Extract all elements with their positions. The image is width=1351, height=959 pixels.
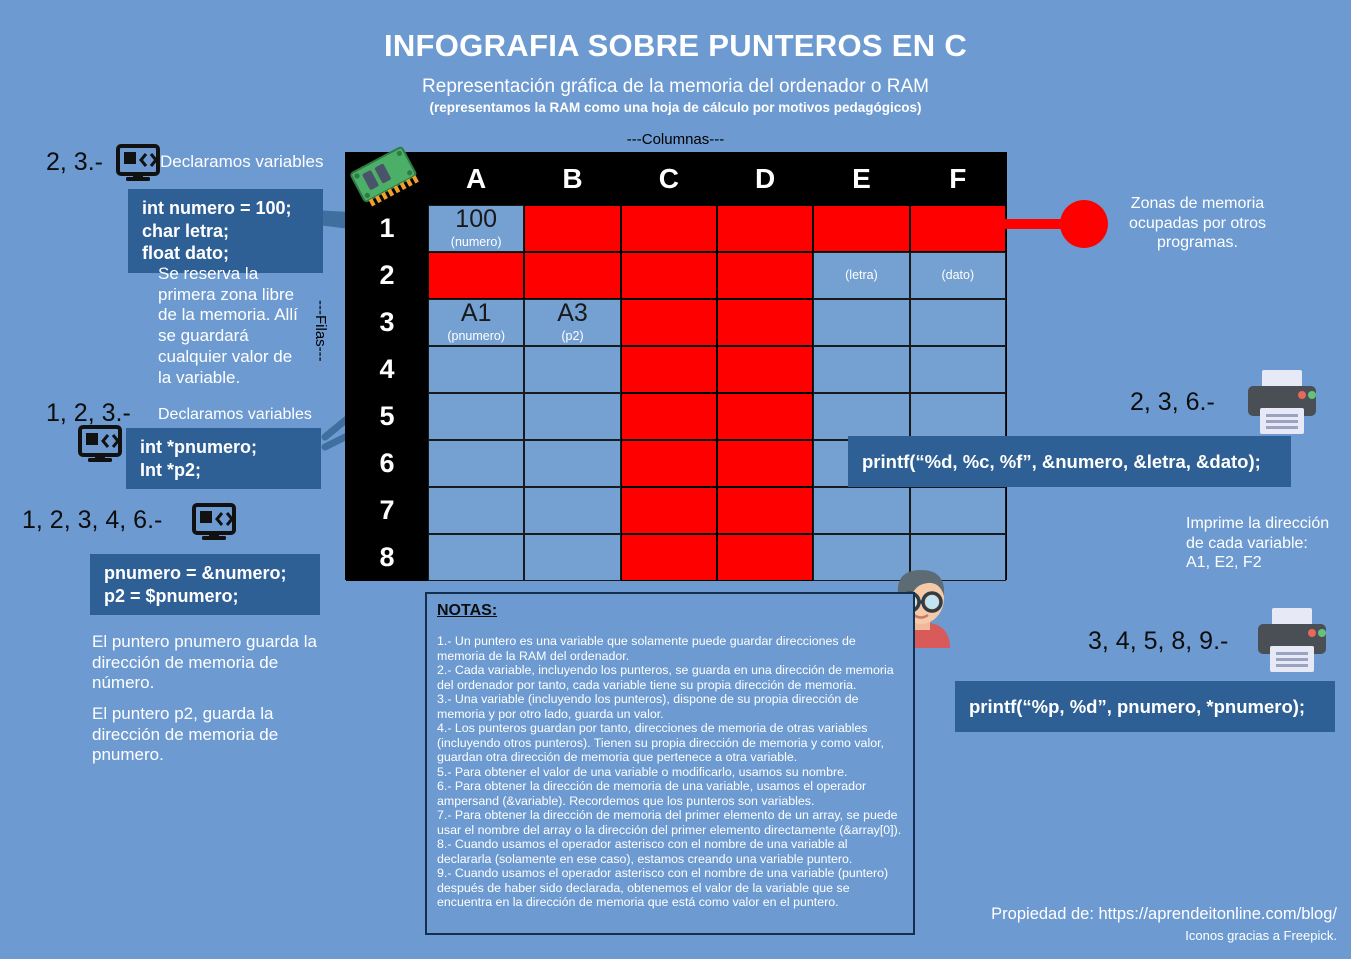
cell-A8[interactable] <box>428 534 524 581</box>
cell-label: (numero) <box>451 236 502 249</box>
ram-chip-icon <box>344 138 430 217</box>
cell-A2[interactable] <box>428 252 524 299</box>
cell-F1[interactable] <box>910 205 1006 252</box>
cell-D7[interactable] <box>717 487 813 534</box>
row-header-5: 5 <box>346 393 428 440</box>
cell-F2[interactable]: (dato) <box>910 252 1006 299</box>
column-header-c: C <box>621 153 717 205</box>
cell-D5[interactable] <box>717 393 813 440</box>
cell-D4[interactable] <box>717 346 813 393</box>
row-header-8: 8 <box>346 534 428 581</box>
spreadsheet-row: 2(letra)(dato) <box>346 252 1006 299</box>
used-memory-legend-swatch <box>1060 200 1108 248</box>
note-item: 5.- Para obtener el valor de una variabl… <box>437 765 903 780</box>
cell-B4[interactable] <box>524 346 620 393</box>
cell-D2[interactable] <box>717 252 813 299</box>
row-header-4: 4 <box>346 346 428 393</box>
cell-B2[interactable] <box>524 252 620 299</box>
print-1-number: 2, 3, 6.- <box>1130 388 1215 417</box>
step-1-number: 2, 3.- <box>46 148 103 177</box>
step-2-caption: Declaramos variables <box>158 405 312 425</box>
cell-E1[interactable] <box>813 205 909 252</box>
page-subtitle: Representación gráfica de la memoria del… <box>0 76 1351 98</box>
cell-label: (p2) <box>561 330 583 343</box>
column-header-e: E <box>813 153 909 205</box>
cell-C8[interactable] <box>621 534 717 581</box>
page-title: INFOGRAFIA SOBRE PUNTEROS EN C <box>0 28 1351 64</box>
cell-C3[interactable] <box>621 299 717 346</box>
cell-label: (letra) <box>845 269 878 282</box>
cell-A7[interactable] <box>428 487 524 534</box>
code-monitor-icon <box>116 144 160 184</box>
legend-connector-line <box>1004 219 1066 229</box>
memory-spreadsheet: A B C D E F 1100(numero)2(letra)(dato)3A… <box>345 152 1007 580</box>
footer-attribution: Propiedad de: https://aprendeitonline.co… <box>991 905 1337 924</box>
cell-F5[interactable] <box>910 393 1006 440</box>
sheet-corner <box>346 153 428 205</box>
cell-C7[interactable] <box>621 487 717 534</box>
column-header-a: A <box>428 153 524 205</box>
step-2-number: 1, 2, 3.- <box>46 399 131 428</box>
cell-A4[interactable] <box>428 346 524 393</box>
spreadsheet-row: 4 <box>346 346 1006 393</box>
printer-icon-2 <box>1250 606 1334 674</box>
note-item: 1.- Un puntero es una variable que solam… <box>437 634 903 663</box>
cell-C2[interactable] <box>621 252 717 299</box>
spreadsheet-row: 3A1(pnumero)A3(p2) <box>346 299 1006 346</box>
cell-D3[interactable] <box>717 299 813 346</box>
row-header-7: 7 <box>346 487 428 534</box>
row-header-3: 3 <box>346 299 428 346</box>
spreadsheet-row: 7 <box>346 487 1006 534</box>
cell-value: A1 <box>461 301 492 326</box>
cell-A6[interactable] <box>428 440 524 487</box>
cell-B7[interactable] <box>524 487 620 534</box>
row-header-1: 1 <box>346 205 428 252</box>
note-item: 8.- Cuando usamos el operador asterisco … <box>437 837 903 866</box>
column-header-b: B <box>524 153 620 205</box>
rows-axis-label: ---Filas--- <box>312 300 329 362</box>
note-item: 6.- Para obtener la dirección de memoria… <box>437 779 903 808</box>
cell-B6[interactable] <box>524 440 620 487</box>
footer-icon-credit: Iconos gracias a Freepick. <box>1185 928 1337 943</box>
printer-icon-1 <box>1240 368 1324 436</box>
code-block-printf-addresses: printf(“%d, %c, %f”, &numero, &letra, &d… <box>848 436 1291 487</box>
step-1-caption: Declaramos variables <box>160 152 323 173</box>
code-monitor-icon-3 <box>192 503 236 543</box>
row-header-6: 6 <box>346 440 428 487</box>
cell-D6[interactable] <box>717 440 813 487</box>
cell-F4[interactable] <box>910 346 1006 393</box>
cell-C6[interactable] <box>621 440 717 487</box>
code-block-printf-pointer: printf(“%p, %d”, pnumero, *pnumero); <box>955 681 1335 732</box>
step-3-note-1: El puntero pnumero guarda la dirección d… <box>92 632 320 694</box>
spreadsheet-row: 1100(numero) <box>346 205 1006 252</box>
code-block-declare-vars: int numero = 100; char letra; float dato… <box>128 189 323 273</box>
cell-C4[interactable] <box>621 346 717 393</box>
note-item: 2.- Cada variable, incluyendo los punter… <box>437 663 903 692</box>
note-item: 4.- Los punteros guardan por tanto, dire… <box>437 721 903 765</box>
note-item: 7.- Para obtener la dirección de memoria… <box>437 808 903 837</box>
notes-list: 1.- Un puntero es una variable que solam… <box>437 634 903 910</box>
print-2-number: 3, 4, 5, 8, 9.- <box>1088 627 1228 656</box>
notes-panel: NOTAS: 1.- Un puntero es una variable qu… <box>425 592 915 935</box>
cell-A5[interactable] <box>428 393 524 440</box>
cell-B8[interactable] <box>524 534 620 581</box>
note-item: 9.- Cuando usamos el operador asterisco … <box>437 866 903 910</box>
column-header-d: D <box>717 153 813 205</box>
cell-C5[interactable] <box>621 393 717 440</box>
cell-C1[interactable] <box>621 205 717 252</box>
cell-B5[interactable] <box>524 393 620 440</box>
code-block-declare-pointers: int *pnumero; Int *p2; <box>126 428 321 489</box>
cell-D1[interactable] <box>717 205 813 252</box>
cell-E3[interactable] <box>813 299 909 346</box>
column-header-row: A B C D E F <box>346 153 1006 205</box>
code-monitor-icon-2 <box>78 425 122 465</box>
step-3-note-2: El puntero p2, guarda la dirección de me… <box>92 704 320 766</box>
cell-value: A3 <box>557 301 588 326</box>
column-header-f: F <box>910 153 1006 205</box>
cell-A1[interactable]: 100(numero) <box>428 205 524 252</box>
row-header-2: 2 <box>346 252 428 299</box>
cell-E2[interactable]: (letra) <box>813 252 909 299</box>
cell-B3[interactable]: A3(p2) <box>524 299 620 346</box>
cell-value: 100 <box>455 207 497 232</box>
cell-F3[interactable] <box>910 299 1006 346</box>
spreadsheet-body: 1100(numero)2(letra)(dato)3A1(pnumero)A3… <box>346 205 1006 581</box>
spreadsheet-row: 5 <box>346 393 1006 440</box>
columns-axis-label: ---Columnas--- <box>0 131 1351 148</box>
cell-A3[interactable]: A1(pnumero) <box>428 299 524 346</box>
used-memory-legend-text: Zonas de memoria ocupadas por otros prog… <box>1115 194 1280 253</box>
infographic-canvas: INFOGRAFIA SOBRE PUNTEROS EN C Represent… <box>0 0 1351 959</box>
cell-label: (dato) <box>941 269 974 282</box>
cell-label: (pnumero) <box>447 330 505 343</box>
cell-E5[interactable] <box>813 393 909 440</box>
print-1-note: Imprime la dirección de cada variable: A… <box>1186 514 1336 573</box>
step-1-note: Se reserva la primera zona libre de la m… <box>158 264 308 388</box>
cell-F7[interactable] <box>910 487 1006 534</box>
cell-D8[interactable] <box>717 534 813 581</box>
notes-heading: NOTAS: <box>437 602 903 620</box>
cell-B1[interactable] <box>524 205 620 252</box>
code-block-assign-pointers: pnumero = &numero; p2 = $pnumero; <box>90 554 320 615</box>
cell-E7[interactable] <box>813 487 909 534</box>
step-3-number: 1, 2, 3, 4, 6.- <box>22 506 162 535</box>
cell-E4[interactable] <box>813 346 909 393</box>
note-item: 3.- Una variable (incluyendo los puntero… <box>437 692 903 721</box>
page-subtitle-secondary: (representamos la RAM como una hoja de c… <box>0 100 1351 115</box>
